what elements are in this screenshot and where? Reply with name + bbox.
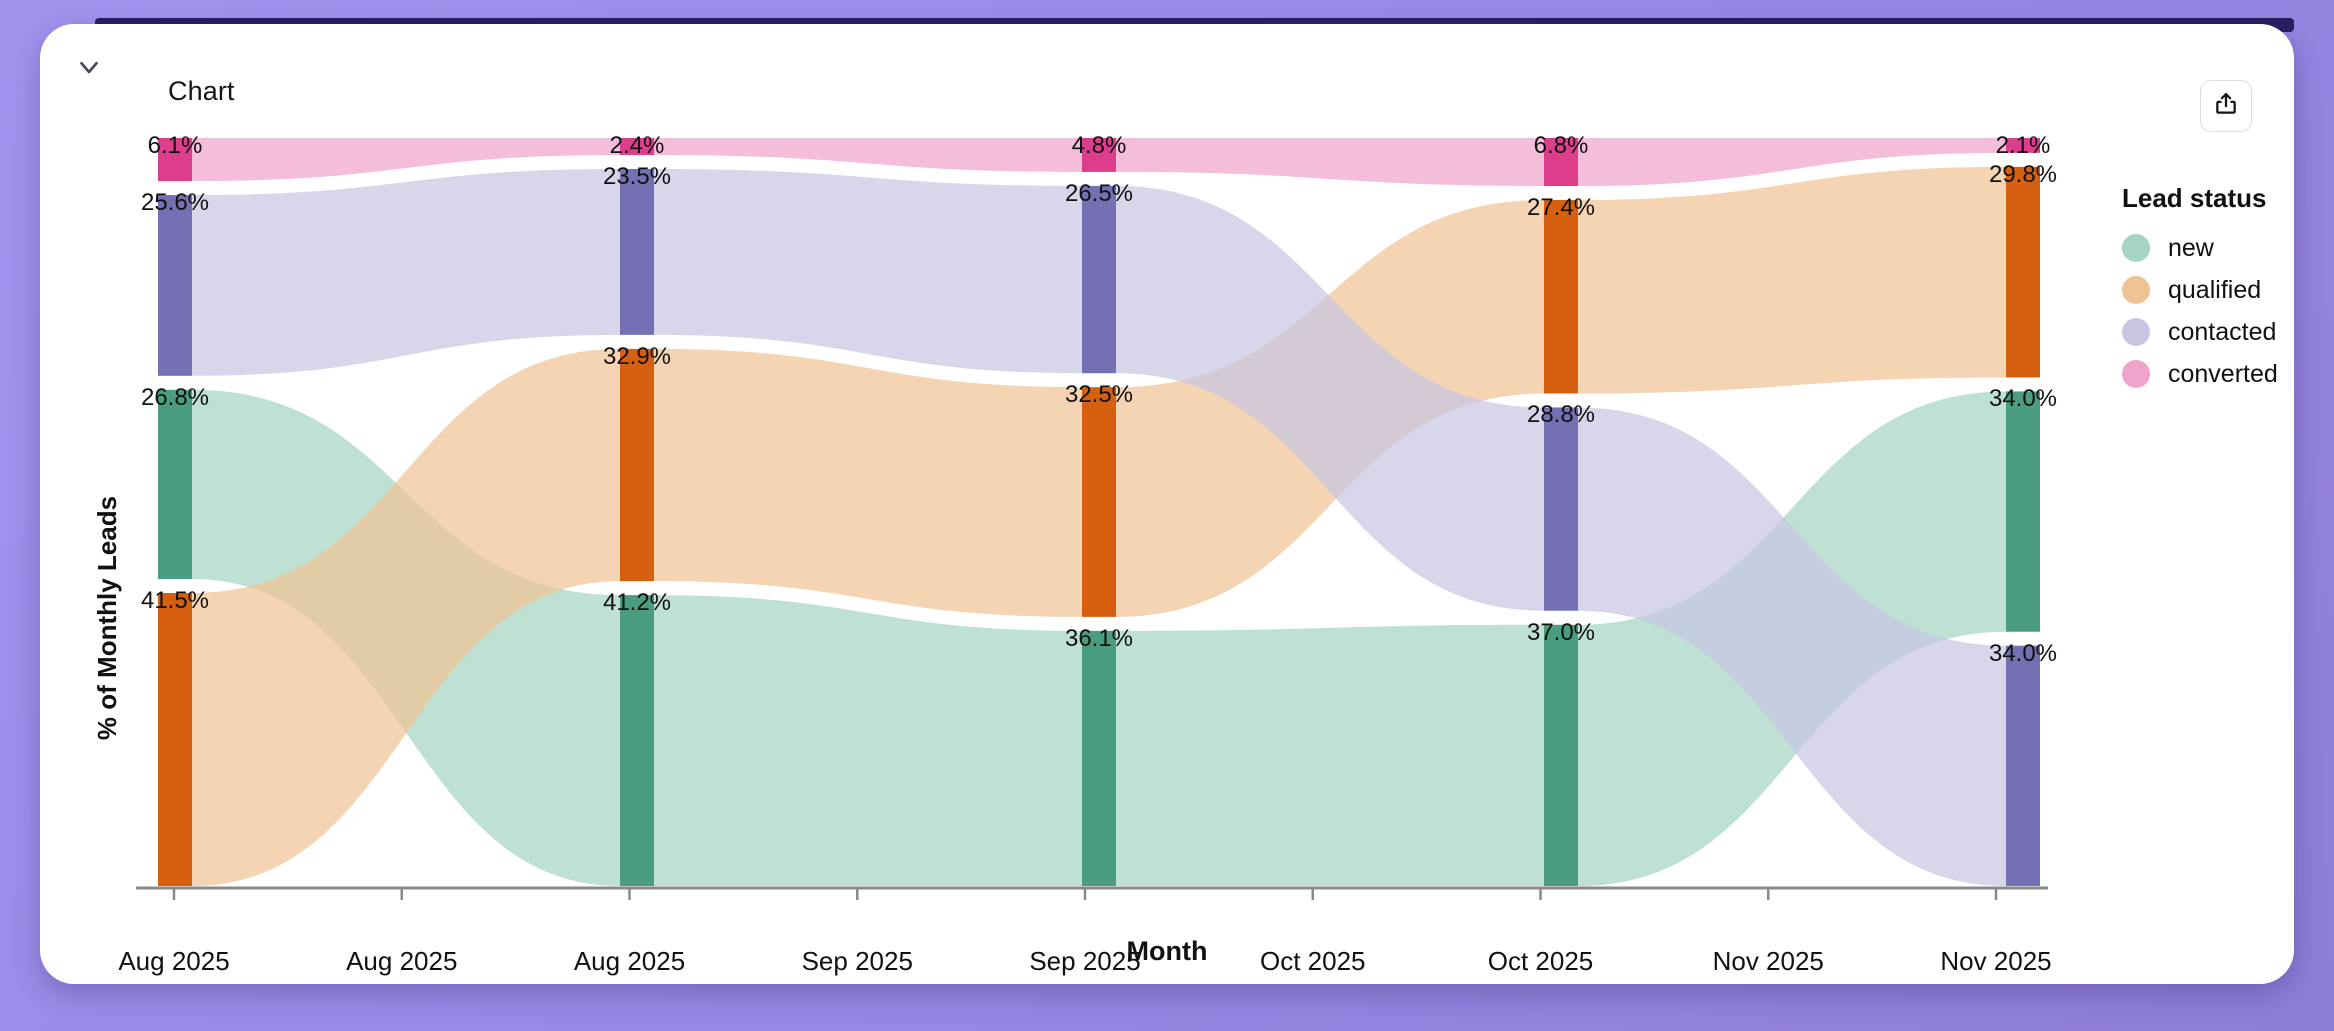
legend-label-new: new [2168, 234, 2214, 263]
alluvial-plot: 6.1%25.6%26.8%41.5%2.4%23.5%32.9%41.2%4.… [136, 128, 2078, 928]
alluvial-node-new[interactable] [158, 390, 192, 579]
y-axis-label: % of Monthly Leads [92, 438, 123, 798]
node-value-label: 29.8% [1989, 163, 2057, 187]
legend-swatch-qualified [2122, 276, 2150, 304]
node-value-label: 28.8% [1527, 403, 1595, 427]
alluvial-node-contacted[interactable] [1544, 407, 1578, 610]
node-value-label: 32.9% [603, 345, 671, 369]
node-value-label: 6.1% [148, 134, 203, 158]
chart-area: % of Monthly Leads 6.1%25.6%26.8%41.5%2.… [40, 108, 2294, 984]
node-value-label: 36.1% [1065, 627, 1133, 651]
alluvial-node-qualified[interactable] [1082, 387, 1116, 617]
legend-swatch-converted [2122, 360, 2150, 388]
legend-item-qualified[interactable]: qualified [2122, 269, 2294, 311]
alluvial-svg [136, 128, 2078, 928]
node-value-label: 34.0% [1989, 642, 2057, 666]
node-value-label: 26.5% [1065, 182, 1133, 206]
alluvial-flow [654, 349, 1082, 617]
alluvial-node-contacted[interactable] [1082, 186, 1116, 373]
chart-card: Chart % of Monthly Leads 6.1%25.6%26.8%4… [40, 24, 2294, 984]
node-value-label: 4.8% [1072, 134, 1127, 158]
alluvial-node-new[interactable] [2006, 391, 2040, 631]
x-axis-label: Month [40, 936, 2294, 967]
alluvial-flow [192, 169, 620, 376]
alluvial-flow [1116, 138, 1544, 186]
alluvial-node-new[interactable] [1082, 631, 1116, 886]
legend: Lead status new qualified contacted conv… [2122, 183, 2294, 395]
alluvial-flow [1578, 167, 2006, 394]
legend-item-new[interactable]: new [2122, 227, 2294, 269]
alluvial-node-qualified[interactable] [620, 349, 654, 581]
node-value-label: 25.6% [141, 191, 209, 215]
node-value-label: 32.5% [1065, 383, 1133, 407]
alluvial-node-qualified[interactable] [1544, 200, 1578, 393]
node-value-label: 6.8% [1534, 134, 1589, 158]
node-value-label: 41.5% [141, 589, 209, 613]
legend-label-qualified: qualified [2168, 276, 2261, 305]
node-value-label: 37.0% [1527, 621, 1595, 645]
alluvial-node-contacted[interactable] [158, 195, 192, 376]
card-header: Chart [40, 24, 2294, 108]
node-value-label: 2.4% [610, 134, 665, 158]
alluvial-node-new[interactable] [1544, 625, 1578, 886]
alluvial-flow [1116, 625, 1544, 886]
alluvial-node-qualified[interactable] [158, 593, 192, 886]
alluvial-node-contacted[interactable] [2006, 646, 2040, 886]
node-value-label: 26.8% [141, 386, 209, 410]
alluvial-flow [654, 595, 1082, 886]
node-value-label: 27.4% [1527, 196, 1595, 220]
legend-item-converted[interactable]: converted [2122, 353, 2294, 395]
legend-title: Lead status [2122, 183, 2294, 214]
alluvial-node-contacted[interactable] [620, 169, 654, 335]
legend-item-contacted[interactable]: contacted [2122, 311, 2294, 353]
legend-swatch-new [2122, 234, 2150, 262]
legend-label-converted: converted [2168, 360, 2278, 389]
node-value-label: 23.5% [603, 165, 671, 189]
alluvial-flow [654, 138, 1082, 172]
page-title: Chart [168, 76, 235, 107]
alluvial-node-new[interactable] [620, 595, 654, 886]
chevron-down-icon[interactable] [74, 52, 104, 82]
node-value-label: 2.1% [1996, 134, 2051, 158]
legend-swatch-contacted [2122, 318, 2150, 346]
node-value-label: 34.0% [1989, 387, 2057, 411]
alluvial-node-qualified[interactable] [2006, 167, 2040, 378]
legend-label-contacted: contacted [2168, 318, 2276, 347]
alluvial-flow [654, 169, 1082, 373]
node-value-label: 41.2% [603, 591, 671, 615]
